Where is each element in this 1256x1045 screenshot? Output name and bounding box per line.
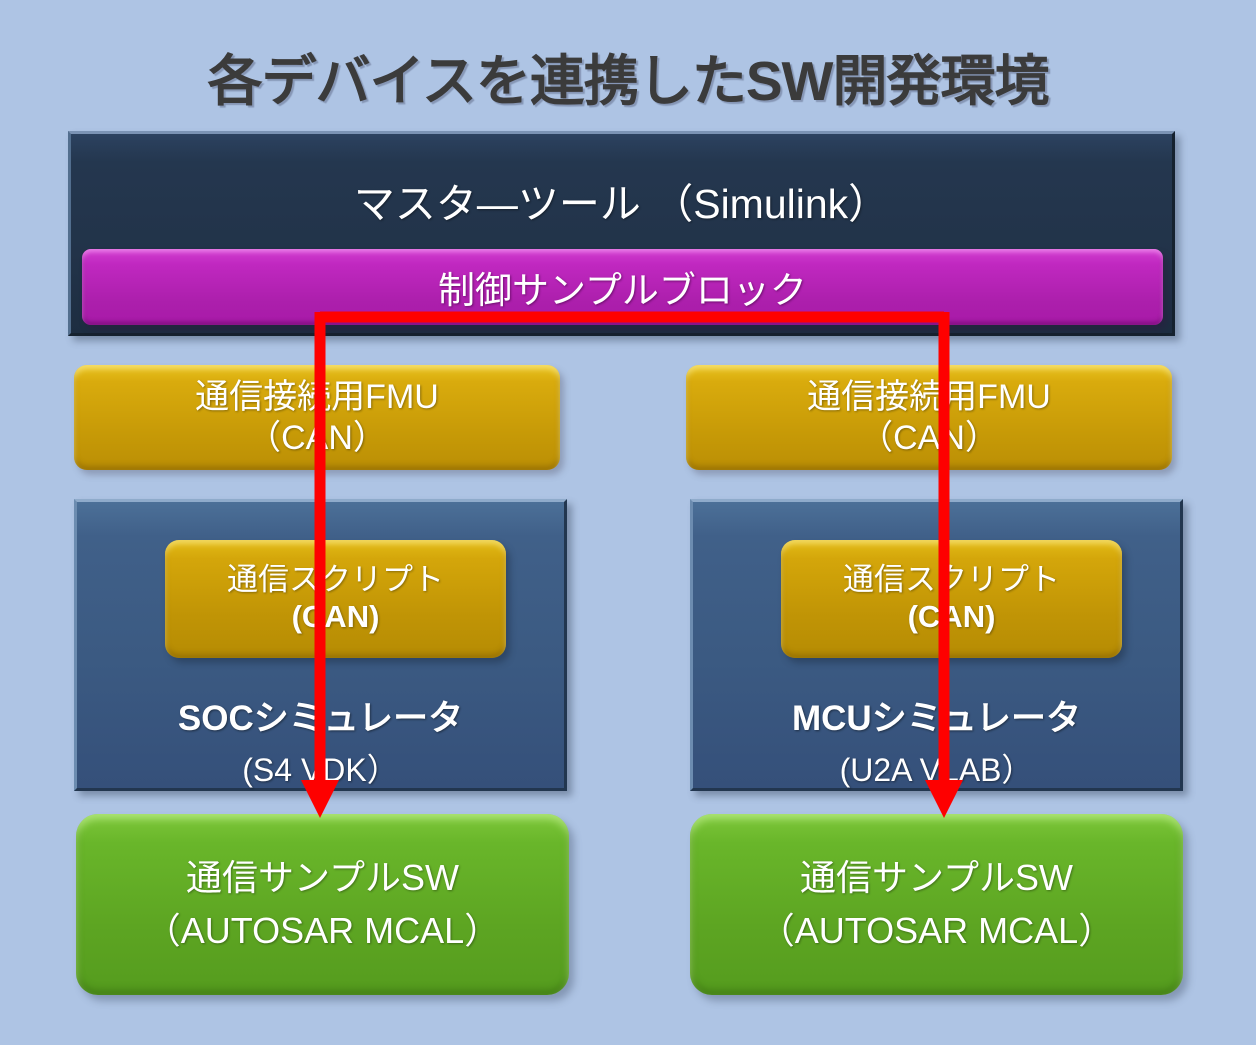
script-box-soc-line1: 通信スクリプト [227,562,444,599]
simulator-box-mcu-line1: MCUシミュレータ [693,690,1180,741]
simulator-box-soc-line1: SOCシミュレータ [77,690,564,741]
fmu-box-mcu-text: 通信接続用FMU （CAN） [807,377,1051,457]
simulator-box-mcu[interactable]: 通信スクリプト (CAN) MCUシミュレータ (U2A VLAB） [690,499,1183,791]
control-sample-block[interactable]: 制御サンプルブロック [82,249,1163,325]
sample-sw-box-mcu-line1: 通信サンプルSW [759,852,1114,904]
fmu-box-soc-line1: 通信接続用FMU [195,377,439,417]
sample-sw-box-soc-text: 通信サンプルSW （AUTOSAR MCAL） [145,852,500,956]
fmu-box-mcu-line1: 通信接続用FMU [807,377,1051,417]
fmu-box-mcu[interactable]: 通信接続用FMU （CAN） [686,365,1172,470]
sample-sw-box-mcu[interactable]: 通信サンプルSW （AUTOSAR MCAL） [690,814,1183,995]
diagram-canvas: 各デバイスを連携したSW開発環境 マスタ―ツール （Simulink） 制御サン… [0,0,1256,1045]
master-tool-label: マスタ―ツール （Simulink） [71,170,1172,230]
sample-sw-box-soc-line2: （AUTOSAR MCAL） [145,905,500,957]
sample-sw-box-soc-line1: 通信サンプルSW [145,852,500,904]
sample-sw-box-mcu-text: 通信サンプルSW （AUTOSAR MCAL） [759,852,1114,956]
script-box-mcu-line2: (CAN) [843,599,1060,636]
fmu-box-soc[interactable]: 通信接続用FMU （CAN） [74,365,560,470]
script-box-mcu-text: 通信スクリプト (CAN) [843,562,1060,635]
simulator-box-soc-line2: (S4 VDK） [77,745,564,791]
simulator-box-mcu-line2: (U2A VLAB） [693,745,1180,791]
script-box-soc-text: 通信スクリプト (CAN) [227,562,444,635]
simulator-box-soc[interactable]: 通信スクリプト (CAN) SOCシミュレータ (S4 VDK） [74,499,567,791]
simulator-box-soc-name: SOCシミュレータ (S4 VDK） [77,690,564,791]
simulator-box-mcu-name: MCUシミュレータ (U2A VLAB） [693,690,1180,791]
script-box-mcu-line1: 通信スクリプト [843,562,1060,599]
fmu-box-mcu-line2: （CAN） [807,418,1051,458]
sample-sw-box-soc[interactable]: 通信サンプルSW （AUTOSAR MCAL） [76,814,569,995]
page-title: 各デバイスを連携したSW開発環境 [0,36,1256,116]
fmu-box-soc-line2: （CAN） [195,418,439,458]
control-sample-block-label: 制御サンプルブロック [438,260,807,314]
sample-sw-box-mcu-line2: （AUTOSAR MCAL） [759,905,1114,957]
script-box-soc-line2: (CAN) [227,599,444,636]
script-box-soc[interactable]: 通信スクリプト (CAN) [165,540,506,658]
fmu-box-soc-text: 通信接続用FMU （CAN） [195,377,439,457]
script-box-mcu[interactable]: 通信スクリプト (CAN) [781,540,1122,658]
